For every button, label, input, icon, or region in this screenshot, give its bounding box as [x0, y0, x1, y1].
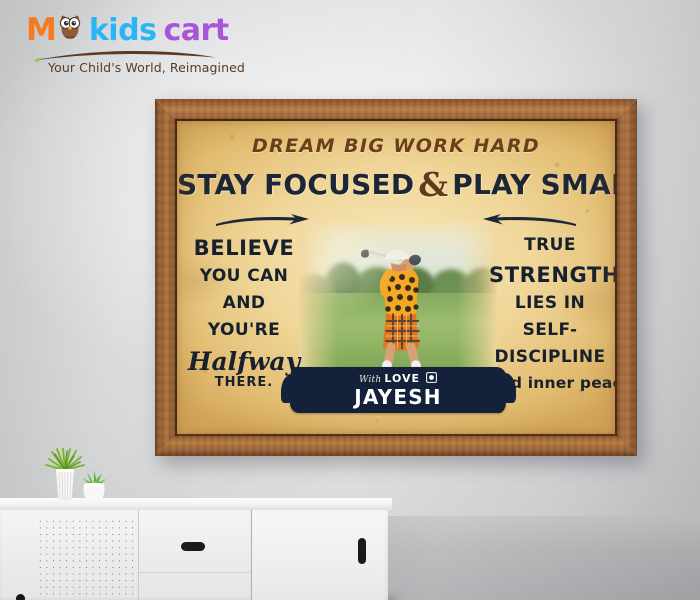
logo-letter-m: M — [26, 12, 56, 48]
frame-left-rail — [155, 99, 177, 456]
frame-right-rail — [615, 99, 637, 456]
sideboard-divider-1 — [138, 510, 139, 600]
perforated-panel — [37, 518, 138, 598]
brand-logo-wordmark: M kids cart — [26, 12, 229, 48]
frame-bottom-rail — [155, 434, 637, 456]
frame-top-rail — [155, 99, 637, 121]
logo-word-kids: kids — [89, 13, 157, 48]
owl-icon — [57, 12, 83, 40]
room-scene: M kids cart — [0, 0, 700, 600]
white-sideboard[interactable] — [0, 498, 392, 600]
cabinet-door-handle[interactable] — [358, 538, 366, 564]
poster-edge-shading — [177, 121, 615, 434]
brand-logo[interactable]: M kids cart — [26, 12, 226, 70]
small-round-pot-succulent — [76, 468, 112, 502]
sideboard-divider-2 — [139, 572, 251, 573]
logo-word-cart: cart — [163, 13, 228, 48]
drawer-handle[interactable] — [181, 542, 205, 551]
poster-artwork[interactable]: DREAM BIG WORK HARD STAY FOCUSED&PLAY SM… — [177, 121, 615, 434]
brand-tagline: Your Child's World, Reimagined — [48, 60, 245, 75]
sideboard-foot — [16, 594, 25, 600]
